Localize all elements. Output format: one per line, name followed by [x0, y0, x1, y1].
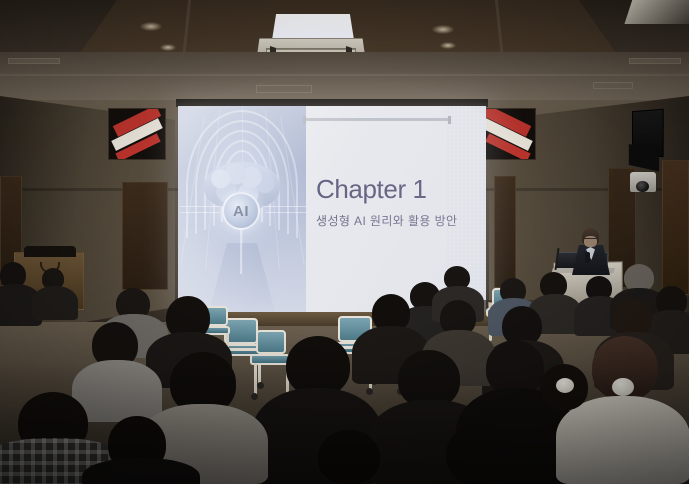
ai-badge-icon: AI [222, 192, 260, 230]
wall-panel [494, 176, 516, 288]
downlight-icon [432, 25, 454, 34]
circuit-line [266, 212, 306, 213]
circuit-line [262, 206, 306, 207]
downlight-icon [140, 22, 162, 31]
ceiling [0, 0, 689, 108]
cabinet-top [24, 246, 76, 257]
downlight-icon [440, 42, 456, 49]
ceiling-vent [8, 58, 60, 64]
slide-subtitle: 생성형 AI 원리와 활용 방안 [316, 212, 484, 229]
door-frame[interactable] [662, 160, 689, 295]
slide-artwork: AI [178, 106, 306, 315]
corner-light [624, 0, 689, 24]
ai-badge-label: AI [233, 203, 249, 220]
ceiling-vent [629, 58, 681, 64]
lecture-hall-scene: AI Chapter 1 생성형 AI 원리와 활용 방안 [0, 0, 689, 484]
tunnel-floor [208, 243, 276, 315]
security-camera-icon [630, 172, 656, 192]
circuit-line [240, 230, 242, 274]
ceiling-vent [593, 82, 633, 89]
projection-screen: AI Chapter 1 생성형 AI 원리와 활용 방안 [178, 106, 486, 315]
glasses-icon [584, 238, 597, 241]
handheld-microphone-icon [585, 252, 590, 263]
screen-rail [303, 118, 451, 121]
left-wall-banner [108, 108, 166, 160]
ceiling-vent [256, 85, 312, 93]
downlight-icon [160, 44, 176, 51]
wall-panel [122, 182, 168, 290]
circuit-line [180, 206, 224, 207]
right-wall-banner [478, 108, 536, 160]
circuit-line [180, 212, 220, 213]
hair-scrunchie [612, 378, 634, 396]
slide-title: Chapter 1 [316, 174, 481, 205]
led-panel-light [272, 14, 354, 40]
hair-scrunchie [556, 378, 574, 393]
